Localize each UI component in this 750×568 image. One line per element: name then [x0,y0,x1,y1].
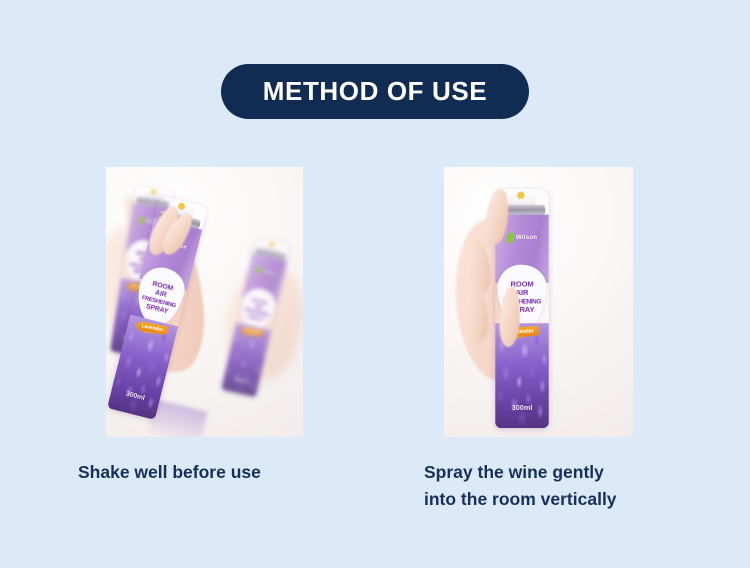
step-caption-shake: Shake well before use [78,459,303,486]
step-card-spray: Wilson ROOM AIR FRESHENING SPRAY Lavende… [444,167,694,513]
brand-logo: Wilson [507,233,538,243]
page-title: METHOD OF USE [263,76,487,107]
step-image-spray: Wilson ROOM AIR FRESHENING SPRAY Lavende… [444,167,633,437]
steps-container: Wilson ROOM AIR FRESHENING SPRAY Lavende… [0,167,750,513]
step-card-shake: Wilson ROOM AIR FRESHENING SPRAY Lavende… [106,167,303,513]
leaf-icon [507,233,514,243]
brand-name: Wilson [516,234,537,241]
header: METHOD OF USE [0,64,750,119]
step-caption-spray: Spray the wine gently into the room vert… [424,459,694,513]
caption-text-line-2: into the room vertically [424,486,694,513]
step-image-shake: Wilson ROOM AIR FRESHENING SPRAY Lavende… [106,167,303,437]
caption-text-line-1: Spray the wine gently [424,459,694,486]
page-title-pill: METHOD OF USE [221,64,529,119]
leaf-icon [139,217,145,225]
can-volume: 300ml [512,405,533,412]
caption-text: Shake well before use [78,462,261,482]
